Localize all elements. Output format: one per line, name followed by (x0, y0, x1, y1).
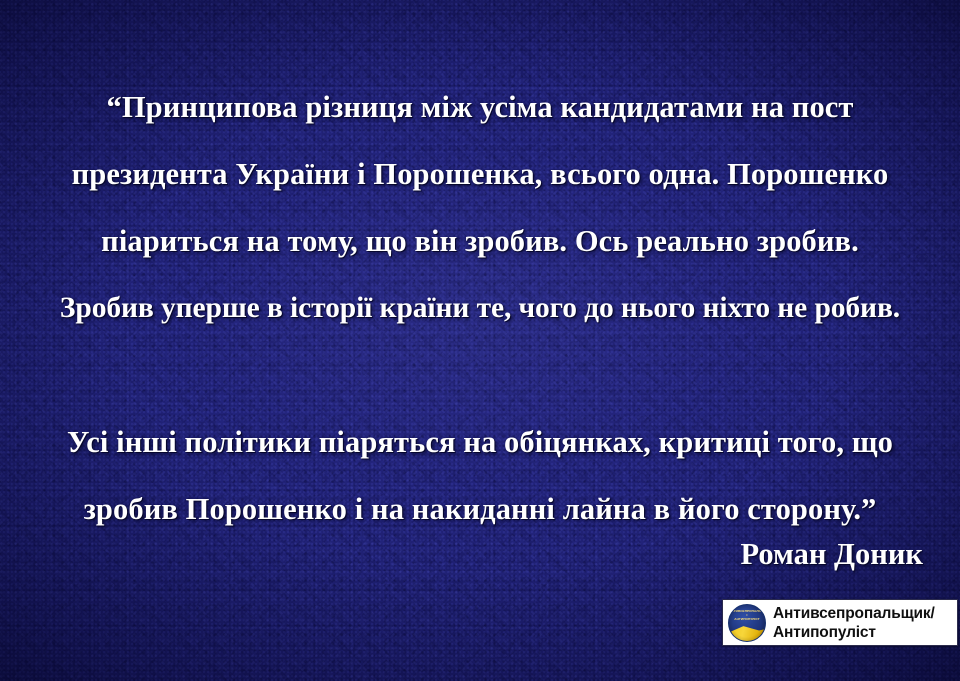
quote-image: “Принципова різниця між усіма кандидатам… (0, 0, 960, 681)
organization-logo-icon: АНТИВСЕПРОПАЛЬЩИК І АНТИПОПУЛІСТ (728, 604, 766, 642)
logo-shading (729, 605, 765, 641)
quote-text-block: “Принципова різниця між усіма кандидатам… (0, 74, 960, 543)
quote-line-3: піариться на тому, що він зробив. Ось ре… (8, 208, 952, 275)
quote-line-1: “Принципова різниця між усіма кандидатам… (8, 74, 952, 141)
quote-line-4: Зробив уперше в історії країни те, чого … (8, 275, 952, 342)
watermark-badge[interactable]: АНТИВСЕПРОПАЛЬЩИК І АНТИПОПУЛІСТ Антивсе… (722, 599, 958, 646)
quote-line-2: президента України і Порошенка, всього о… (8, 141, 952, 208)
quote-line-5: Усі інші політики піаряться на обіцянках… (8, 409, 952, 476)
watermark-label: Антивсепропальщик/ Антипопуліст (773, 604, 935, 642)
paragraph-spacer (8, 342, 952, 409)
quote-author: Роман Доник (740, 533, 923, 575)
